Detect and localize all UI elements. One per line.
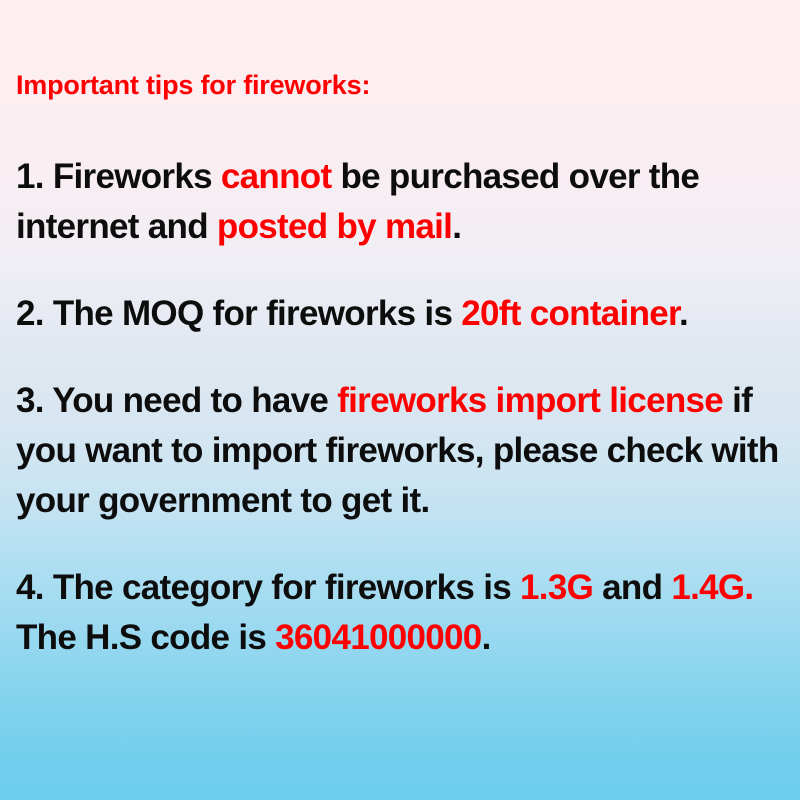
list-item: 2. The MOQ for fireworks is 20ft contain…: [16, 289, 790, 339]
list-item-number: 2.: [16, 294, 44, 333]
highlighted-text: 20ft container: [461, 294, 679, 333]
highlighted-text: 1.3G: [520, 568, 593, 607]
list-item: 4. The category for fireworks is 1.3G an…: [16, 563, 790, 663]
list-item-text: The MOQ for fireworks is: [44, 294, 461, 333]
list-item: 3. You need to have fireworks import lic…: [16, 376, 790, 526]
fireworks-tips-notice: Important tips for fireworks: 1. Firewor…: [0, 0, 800, 800]
list-item-text: .: [452, 207, 461, 246]
tips-list: 1. Fireworks cannot be purchased over th…: [16, 152, 790, 663]
list-item-number: 3.: [16, 381, 44, 420]
highlighted-text: posted by mail: [217, 207, 452, 246]
list-item-text: .: [482, 618, 491, 657]
highlighted-text: cannot: [221, 157, 332, 196]
list-item-text: The category for fireworks is: [44, 568, 520, 607]
list-item-text: You need to have: [44, 381, 337, 420]
list-item: 1. Fireworks cannot be purchased over th…: [16, 152, 790, 252]
list-item-number: 4.: [16, 568, 44, 607]
list-item-number: 1.: [16, 157, 44, 196]
highlighted-text: 1.4G.: [671, 568, 753, 607]
highlighted-text: 36041000000: [275, 618, 481, 657]
list-item-text: Fireworks: [44, 157, 221, 196]
list-item-text: The H.S code is: [16, 618, 275, 657]
list-item-text: and: [593, 568, 671, 607]
list-item-text: .: [679, 294, 688, 333]
page-title: Important tips for fireworks:: [16, 70, 370, 101]
highlighted-text: fireworks import license: [337, 381, 723, 420]
